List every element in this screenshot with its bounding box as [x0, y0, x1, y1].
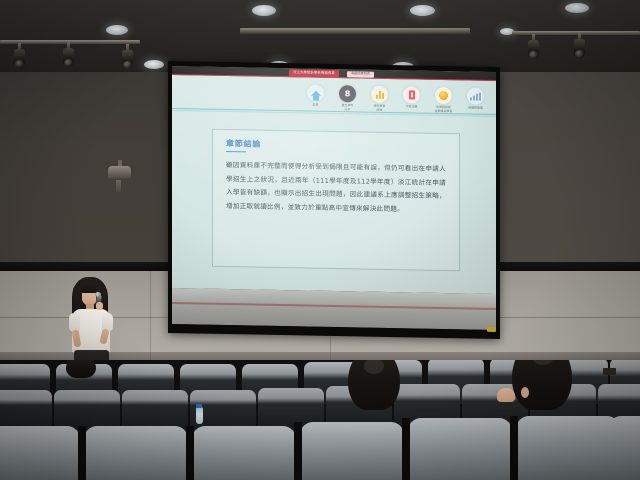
spotlight-5: [574, 39, 585, 58]
slide-section-underline: [226, 151, 246, 153]
slide-content-box: 章節結論 雖因資料庫不完整而使得分析受到侷限且可能有誤，但仍可看出在申請人學招生…: [212, 129, 460, 272]
spotlight-2: [63, 48, 74, 67]
bar-chart-icon: [371, 86, 388, 103]
nav-item-regulations[interactable]: 中央法規: [399, 86, 424, 109]
statistics-icon: [467, 87, 484, 104]
presentation-slide: 淡江大學統計學系專題成果 專題成果發表 首頁 8: [172, 66, 496, 294]
upper-wall-right: [500, 72, 640, 268]
wall-fixture: [603, 368, 616, 375]
seat-near-3: [192, 426, 296, 480]
head-highlight: [532, 360, 554, 365]
seat-near-2: [84, 426, 188, 480]
coin-icon: [435, 87, 452, 104]
audience-seating: [0, 360, 640, 480]
seat-near-7: [608, 416, 640, 480]
nav-item-conclusion[interactable]: 結論與建議: [463, 87, 488, 110]
nav-item-data-analysis[interactable]: 8 整合資料 分析: [335, 85, 360, 112]
slide-brand-chip-label: 淡江大學統計學系專題成果: [293, 71, 335, 75]
slide-body-text: 雖因資料庫不完整而使得分析受到侷限且可能有誤，但仍可看出在申請人學招生上之狀況，…: [226, 159, 446, 217]
seat-near-1: [0, 426, 80, 480]
slide-section-title: 章節結論: [226, 140, 446, 152]
projection-screen-surface: 淡江大學統計學系專題成果 專題成果發表 首頁 8: [172, 66, 496, 330]
ceiling: [0, 0, 640, 72]
nav-item-regulations-label: 中央法規: [406, 105, 418, 109]
nav-item-learning-outcome[interactable]: 學生學習 成效: [367, 86, 392, 113]
nav-item-home[interactable]: 首頁: [303, 84, 328, 107]
downlight-1: [106, 25, 128, 35]
nav-item-future-prospects[interactable]: 未來發展前 途與學系學習: [431, 87, 456, 114]
presenter-hand: [96, 302, 103, 310]
head-highlight: [364, 360, 384, 374]
nav-item-home-label: 首頁: [313, 104, 319, 108]
seat-gap-1: [78, 426, 86, 480]
ceiling-slot-vent: [240, 28, 470, 34]
downlight-3: [410, 5, 435, 16]
downlight-4: [565, 3, 589, 13]
slide-brand-chip: 淡江大學統計學系專題成果: [289, 69, 339, 77]
audience-head-back: [66, 360, 96, 378]
seat-near-6: [516, 416, 620, 480]
seat-near-4: [300, 422, 404, 480]
nav-item-conclusion-label: 結論與建議: [468, 106, 483, 110]
security-camera-icon: [108, 166, 131, 180]
slide-nav-row: 首頁 8 整合資料 分析 學生學習 成效: [303, 84, 488, 114]
audience-ear: [521, 387, 529, 398]
slide-brand-button-label: 專題成果發表: [351, 72, 370, 76]
downlight-7: [144, 60, 164, 69]
slide-brand-button[interactable]: 專題成果發表: [347, 71, 374, 77]
microphone-head: [95, 292, 101, 297]
spotlight-3: [122, 50, 133, 69]
screen-lower-red-line: [172, 302, 496, 310]
audience-head-right: [512, 360, 572, 410]
seat-gap-2: [186, 426, 194, 480]
seat-gap-5: [510, 416, 518, 480]
seat-near-5: [408, 418, 512, 480]
water-bottle: [196, 407, 203, 424]
water-bottle-cap: [196, 404, 202, 408]
downlight-2: [252, 5, 276, 16]
lecture-hall-photo: 淡江大學統計學系專題成果 專題成果發表 首頁 8: [0, 0, 640, 480]
seat-gap-4: [402, 418, 410, 480]
spotlight-1: [14, 49, 25, 68]
spotlight-4: [528, 40, 539, 59]
data-analysis-icon: 8: [339, 85, 356, 102]
seat-gap-3: [294, 422, 302, 480]
audience-hand: [497, 388, 515, 402]
screen-lower-blank: [172, 288, 496, 330]
screen-corner-tab: [487, 327, 496, 332]
projection-screen: 淡江大學統計學系專題成果 專題成果發表 首頁 8: [168, 61, 500, 339]
audience-head-left: [348, 360, 400, 410]
camera-stalk: [116, 180, 121, 192]
home-icon: [307, 85, 324, 102]
book-icon: [403, 86, 420, 103]
light-track-left: [0, 40, 140, 44]
